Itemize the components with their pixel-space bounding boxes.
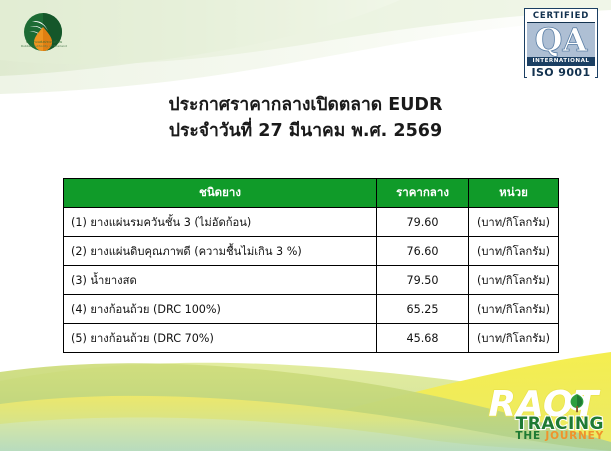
logo-subtagline: THE JOURNEY <box>462 430 604 442</box>
qa-mark-icon: QA <box>527 23 595 57</box>
cell-type: (2) ยางแผ่นดิบคุณภาพดี (ความชื้นไม่เกิน … <box>64 237 377 266</box>
column-header-price: ราคากลาง <box>377 179 469 208</box>
table-row: (4) ยางก้อนถ้วย (DRC 100%) 65.25 (บาท/กิ… <box>64 295 559 324</box>
table-row: (2) ยางแผ่นดิบคุณภาพดี (ความชื้นไม่เกิน … <box>64 237 559 266</box>
column-header-type: ชนิดยาง <box>64 179 377 208</box>
table-row: (1) ยางแผ่นรมควันชั้น 3 (ไม่อัดก้อน) 79.… <box>64 208 559 237</box>
cell-unit: (บาท/กิโลกรัม) <box>469 266 559 295</box>
badge-certified-label: CERTIFIED <box>527 11 595 23</box>
cell-unit: (บาท/กิโลกรัม) <box>469 237 559 266</box>
cell-type: (1) ยางแผ่นรมควันชั้น 3 (ไม่อัดก้อน) <box>64 208 377 237</box>
column-header-unit: หน่วย <box>469 179 559 208</box>
cell-price: 79.50 <box>377 266 469 295</box>
cell-price: 45.68 <box>377 324 469 353</box>
cell-type: (5) ยางก้อนถ้วย (DRC 70%) <box>64 324 377 353</box>
seal-caption-en: Rubber Authority of Thailand <box>8 45 80 48</box>
cell-price: 76.60 <box>377 237 469 266</box>
logo-subtagline-the: THE <box>515 430 541 442</box>
cell-type: (3) น้ำยางสด <box>64 266 377 295</box>
raot-rubber-drop-seal-icon <box>12 10 74 62</box>
iso-certification-badge: CERTIFIED QA INTERNATIONAL ISO 9001 <box>524 8 598 78</box>
badge-international-label: INTERNATIONAL <box>527 57 595 66</box>
announcement-page: การยางแห่งประเทศไทย Rubber Authority of … <box>0 0 611 451</box>
table-row: (3) น้ำยางสด 79.50 (บาท/กิโลกรัม) <box>64 266 559 295</box>
badge-standard-label: ISO 9001 <box>527 66 595 80</box>
title-line-2: ประจำวันที่ 27 มีนาคม พ.ศ. 2569 <box>0 118 611 144</box>
cell-unit: (บาท/กิโลกรัม) <box>469 324 559 353</box>
svg-text:QA: QA <box>535 23 589 57</box>
title-line-1: ประกาศราคากลางเปิดตลาด EUDR <box>0 92 611 118</box>
table-header-row: ชนิดยาง ราคากลาง หน่วย <box>64 179 559 208</box>
price-table: ชนิดยาง ราคากลาง หน่วย (1) ยางแผ่นรมควัน… <box>63 178 559 353</box>
logo-subtagline-journey: JOURNEY <box>545 430 604 442</box>
cell-unit: (บาท/กิโลกรัม) <box>469 295 559 324</box>
raot-tracing-logo: RAOT TRACING THE JOURNEY <box>452 386 604 448</box>
cell-unit: (บาท/กิโลกรัม) <box>469 208 559 237</box>
price-table-container: ชนิดยาง ราคากลาง หน่วย (1) ยางแผ่นรมควัน… <box>63 178 549 353</box>
cell-price: 65.25 <box>377 295 469 324</box>
table-row: (5) ยางก้อนถ้วย (DRC 70%) 45.68 (บาท/กิโ… <box>64 324 559 353</box>
cell-type: (4) ยางก้อนถ้วย (DRC 100%) <box>64 295 377 324</box>
page-title: ประกาศราคากลางเปิดตลาด EUDR ประจำวันที่ … <box>0 92 611 144</box>
seal-caption: การยางแห่งประเทศไทย Rubber Authority of … <box>8 41 80 48</box>
cell-price: 79.60 <box>377 208 469 237</box>
